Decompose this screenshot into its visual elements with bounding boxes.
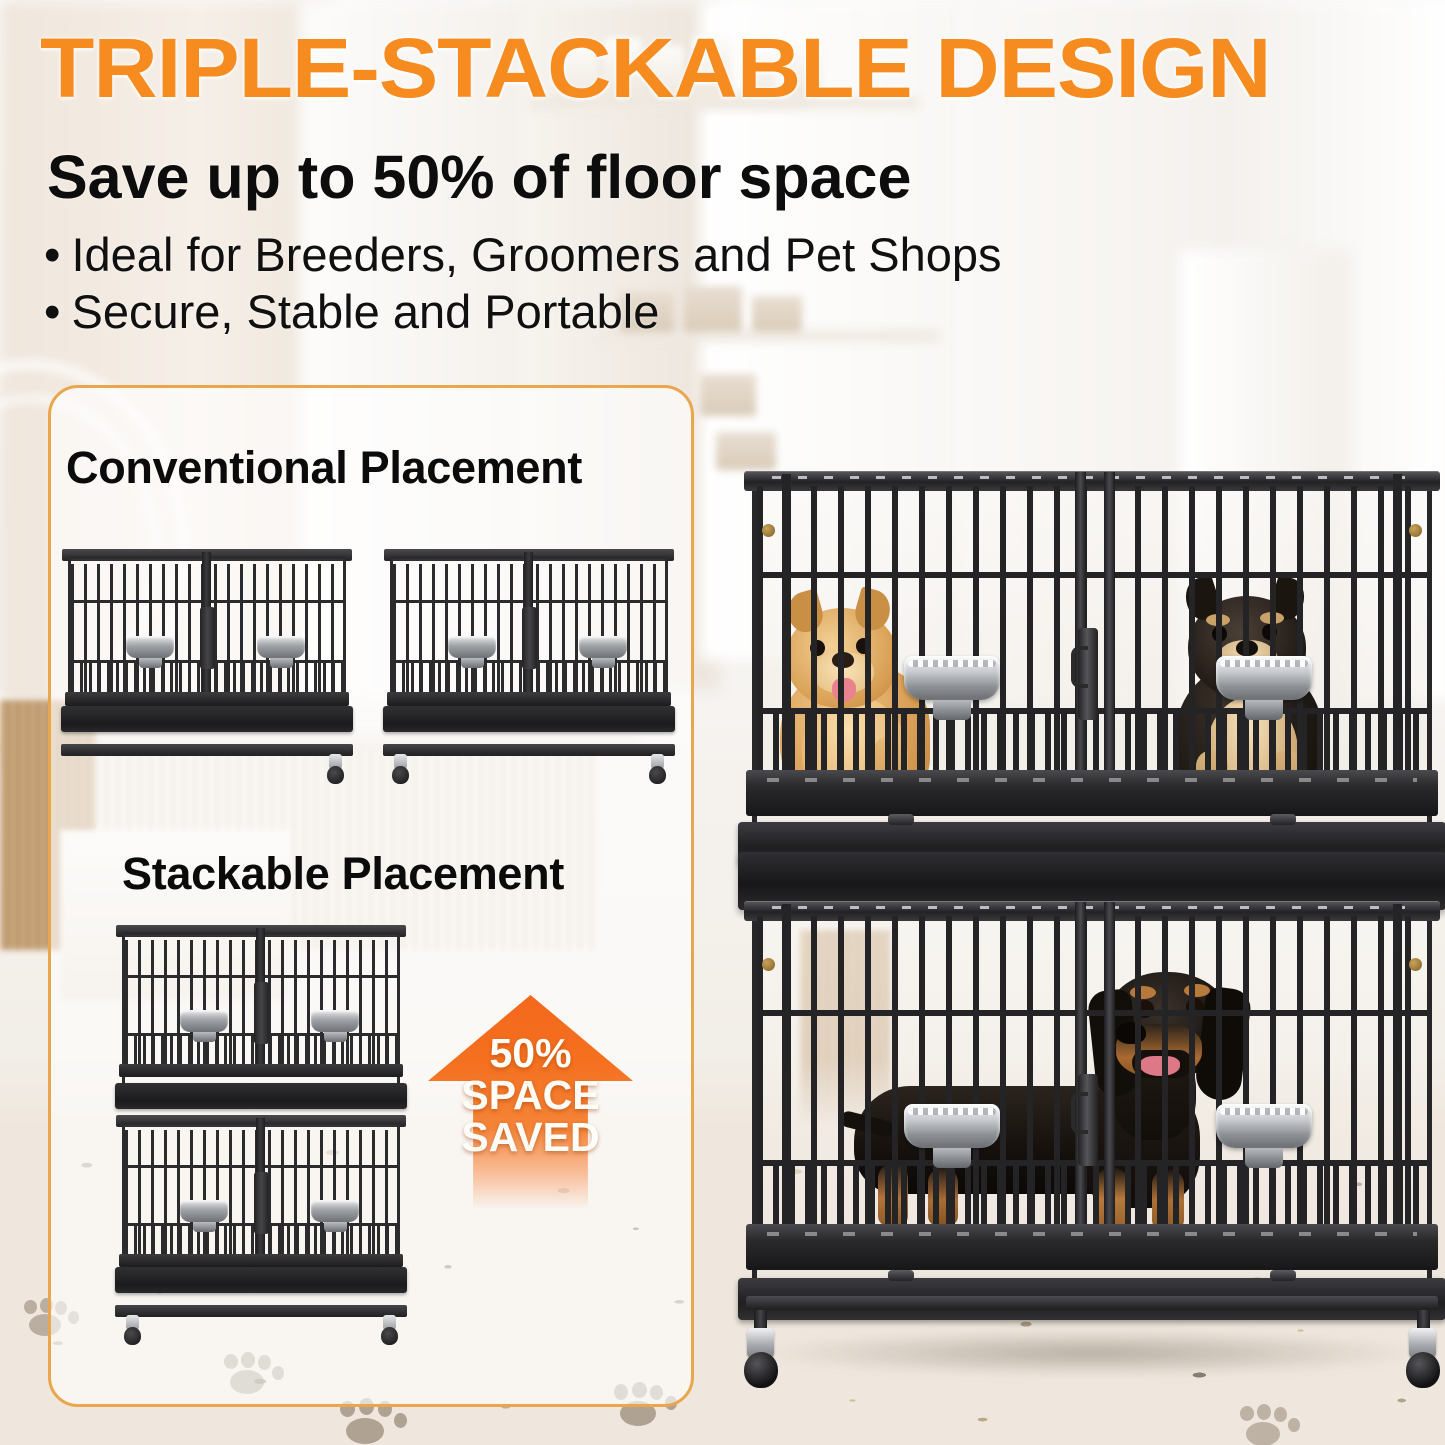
crate-rail	[757, 1010, 1427, 1016]
dog-eye	[1212, 626, 1227, 642]
crate-corner-post	[1393, 904, 1402, 1224]
list-item: •Secure, Stable and Portable	[44, 283, 1002, 340]
crate-floor-pan	[746, 1224, 1438, 1270]
crate-bottom-rail	[746, 1296, 1438, 1310]
tray-handle[interactable]	[1270, 1270, 1296, 1281]
slide-out-tray	[115, 1083, 407, 1109]
food-bowl	[904, 656, 1000, 700]
feature-bullet-list: •Ideal for Breeders, Groomers and Pet Sh…	[44, 226, 1002, 341]
food-bowl	[311, 1200, 359, 1222]
crate-door-latch	[1078, 1074, 1098, 1166]
crate-door-edge	[1075, 902, 1086, 1224]
crate-hinge-icon	[762, 524, 775, 537]
crate-leg-assembly	[746, 1296, 1438, 1370]
caster-wheel	[381, 1315, 398, 1345]
food-bowl	[311, 1010, 359, 1032]
crate-hinge-icon	[762, 958, 775, 971]
caster-wheel	[124, 1315, 141, 1345]
crate-floor-pan	[746, 770, 1438, 816]
crate-corner-post	[1393, 474, 1402, 772]
cage-base-frame	[383, 744, 675, 756]
crate-door-latch	[1078, 628, 1098, 720]
dog-eye	[856, 638, 871, 654]
food-bowl	[257, 636, 305, 658]
caster-wheel	[392, 754, 409, 784]
cage-door-latch	[522, 607, 537, 669]
crate-hinge-icon	[1409, 524, 1422, 537]
paw-print-icon	[1238, 1404, 1308, 1445]
cage-conventional-right	[390, 556, 668, 726]
food-bowl	[448, 636, 496, 658]
dog-leg	[1152, 1170, 1184, 1230]
cage-base-frame	[115, 1305, 407, 1317]
cage-floor-pan	[119, 1064, 403, 1077]
dog-leg	[928, 1168, 958, 1226]
dog-tongue	[832, 678, 856, 702]
food-bowl	[904, 1104, 1000, 1148]
dog-eyebrow-marking	[1206, 614, 1230, 626]
shelf-box	[700, 374, 756, 416]
slide-out-tray	[383, 706, 675, 732]
cage-stacked-lower	[122, 1122, 400, 1287]
dog-nose	[1236, 640, 1258, 656]
shelf-box	[716, 432, 776, 470]
crate-corner-post	[782, 474, 791, 772]
tray-handle[interactable]	[888, 1270, 914, 1281]
crate-hinge-icon	[1409, 958, 1422, 971]
space-saved-percent: 50%	[428, 1033, 633, 1075]
cage-floor-pan	[65, 692, 349, 706]
caster-wheel	[744, 1328, 778, 1388]
product-photo-stacked-crate	[752, 480, 1432, 1370]
food-bowl	[1216, 656, 1312, 700]
marketing-banner: TRIPLE-STACKABLE DESIGN Save up to 50% o…	[0, 0, 1445, 1445]
dog-leg	[878, 1164, 908, 1226]
cage-door-latch	[200, 607, 215, 669]
tray-handle[interactable]	[1270, 814, 1296, 825]
crate-rail	[757, 572, 1427, 578]
bullet-text: Ideal for Breeders, Groomers and Pet Sho…	[71, 228, 1001, 281]
caster-wheel	[649, 754, 666, 784]
space-saved-callout: 50% SPACE SAVED	[428, 995, 633, 1210]
list-item: •Ideal for Breeders, Groomers and Pet Sh…	[44, 226, 1002, 283]
crate-top-rail	[744, 471, 1440, 491]
crate-tier-bottom	[752, 910, 1432, 1296]
cage-conventional-left	[68, 556, 346, 726]
crate-door-edge	[1075, 472, 1086, 772]
cage-floor-pan	[119, 1254, 403, 1267]
food-bowl	[180, 1200, 228, 1222]
cage-door-latch	[254, 982, 269, 1044]
bullet-text: Secure, Stable and Portable	[71, 285, 659, 338]
cage-door-latch	[254, 1172, 269, 1234]
dog-eye	[1262, 624, 1277, 640]
dog-eyebrow-marking	[1184, 984, 1210, 997]
stackable-placement-label: Stackable Placement	[122, 848, 564, 900]
subheadline: Save up to 50% of floor space	[47, 145, 911, 209]
dog-eye	[810, 640, 825, 656]
space-saved-word-space: SPACE	[428, 1075, 633, 1117]
cage-stacked-upper	[122, 932, 400, 1097]
cage-floor-pan	[387, 692, 671, 706]
bullet-dot-icon: •	[44, 226, 60, 283]
crate-door-edge	[1104, 902, 1115, 1224]
tray-handle[interactable]	[888, 814, 914, 825]
food-bowl	[579, 636, 627, 658]
bullet-dot-icon: •	[44, 283, 60, 340]
caster-wheel	[1406, 1328, 1440, 1388]
food-bowl	[180, 1010, 228, 1032]
crate-corner-post	[782, 904, 791, 1224]
crate-door-edge	[1104, 472, 1115, 772]
dog-tongue	[1140, 1056, 1180, 1076]
cage-base-frame	[61, 744, 353, 756]
crate-tier-top	[752, 480, 1432, 836]
dog-eyebrow-marking	[1130, 986, 1156, 999]
dog-nose	[1116, 1022, 1146, 1044]
dog-eyebrow-marking	[1260, 612, 1284, 624]
space-saved-word-saved: SAVED	[428, 1117, 633, 1159]
dog-nose	[832, 652, 854, 668]
crate-top-rail	[744, 901, 1440, 921]
caster-wheel	[327, 754, 344, 784]
slide-out-tray	[115, 1267, 407, 1293]
space-saved-text: 50% SPACE SAVED	[428, 1033, 633, 1158]
slide-out-tray	[61, 706, 353, 732]
food-bowl	[126, 636, 174, 658]
page-title: TRIPLE-STACKABLE DESIGN	[40, 26, 1445, 110]
caster-wheel	[70, 754, 87, 784]
conventional-placement-label: Conventional Placement	[66, 442, 582, 494]
food-bowl	[1216, 1104, 1312, 1148]
